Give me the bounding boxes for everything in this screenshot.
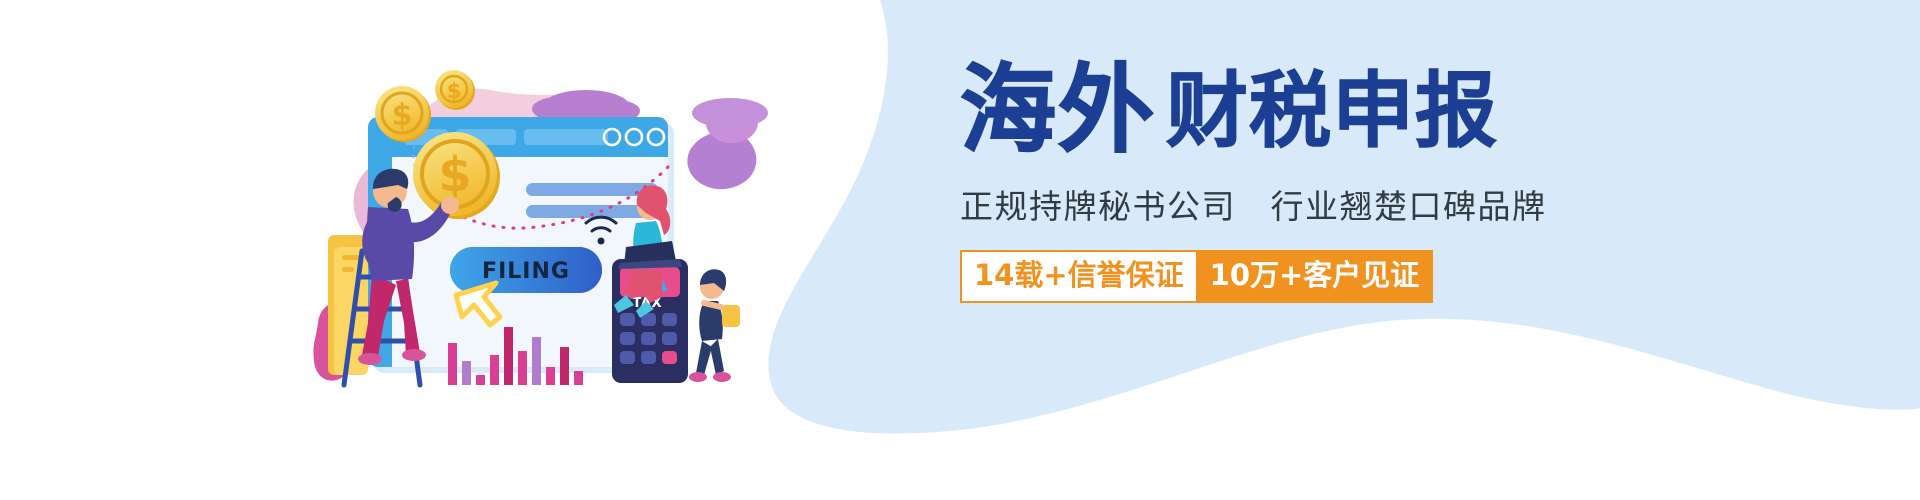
status-badge-clients: 10万+客户见证 <box>1196 250 1434 303</box>
status-badge-years: 14载+信誉保证 <box>960 250 1196 303</box>
tax-filing-illustration: FILING $ $ $ <box>300 55 770 395</box>
page-title: 海外 财税申报 <box>960 62 1720 158</box>
banner-subtitle: 正规持牌秘书公司 行业翘楚口碑品牌 <box>960 180 1720 228</box>
filing-button-label: FILING <box>482 259 570 284</box>
headline-part-secondary: 财税申报 <box>1166 71 1498 153</box>
promo-banner: FILING $ $ $ <box>0 0 1920 500</box>
coin-large-symbol: $ <box>438 147 471 203</box>
filing-button: FILING <box>450 247 602 293</box>
banner-text-block: 海外 财税申报 正规持牌秘书公司 行业翘楚口碑品牌 14载+信誉保证 10万+客… <box>960 62 1720 303</box>
person-with-bag <box>689 269 740 382</box>
headline-part-primary: 海外 <box>960 62 1156 158</box>
coin-medium-symbol: $ <box>392 98 413 133</box>
coin-small-symbol: $ <box>447 79 462 103</box>
badge-group: 14载+信誉保证 10万+客户见证 <box>960 250 1720 303</box>
